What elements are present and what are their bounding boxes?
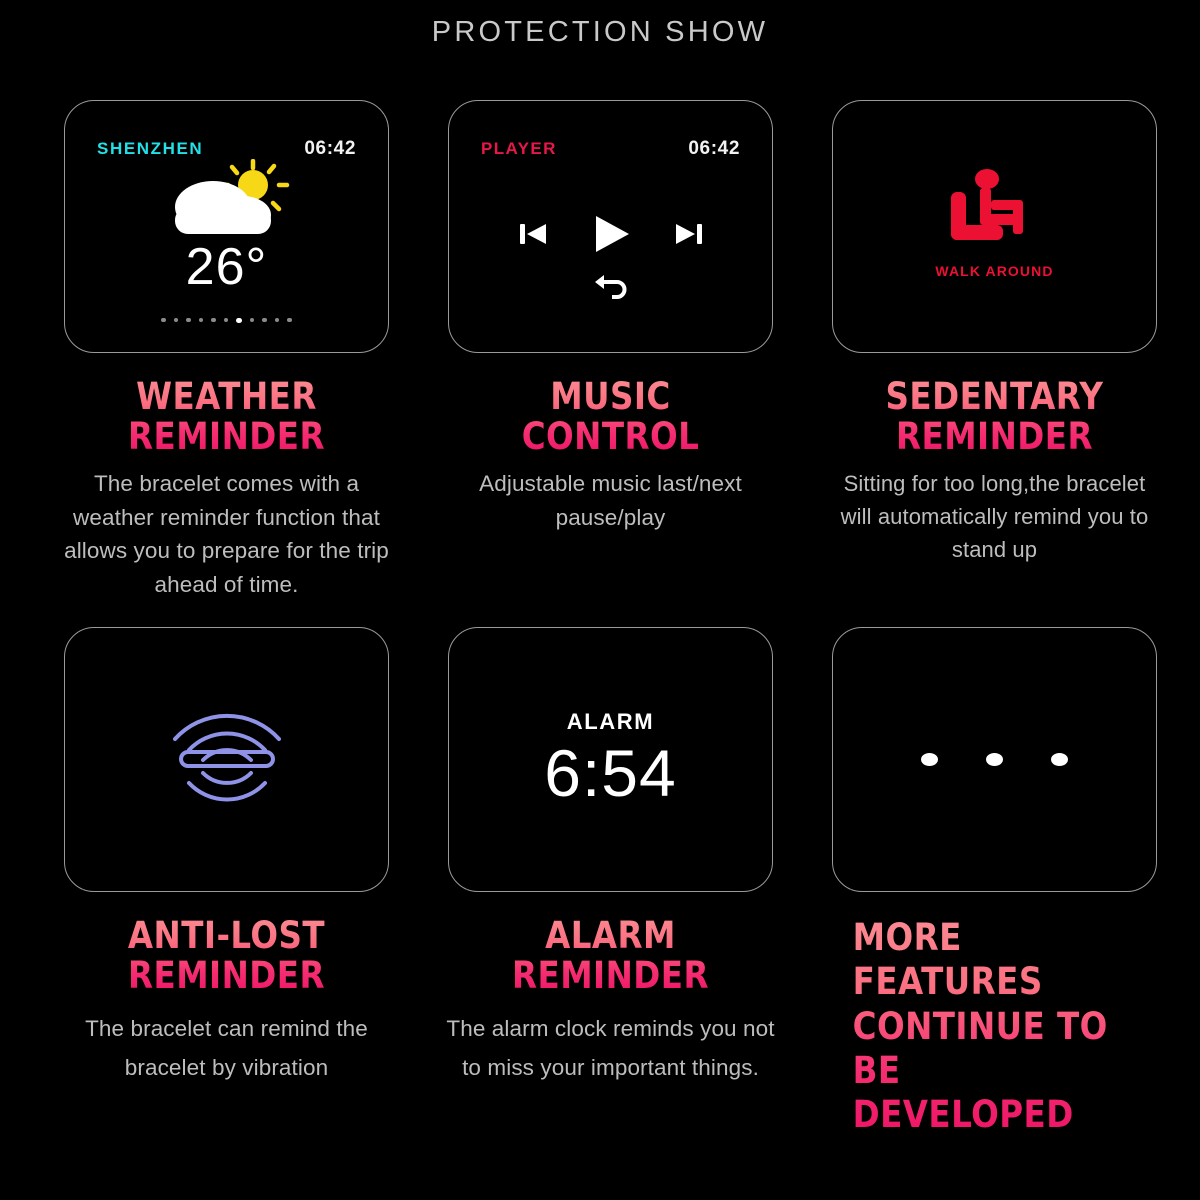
device-screen-sedentary[interactable]: WALK AROUND	[832, 100, 1157, 353]
page-dot	[275, 318, 280, 323]
page-dot	[161, 318, 166, 323]
device-screen-anti-lost[interactable]	[64, 627, 389, 892]
weather-clock-label: 06:42	[304, 138, 356, 160]
page-dot	[186, 318, 191, 323]
play-icon[interactable]	[590, 213, 632, 260]
device-screen-alarm[interactable]: ALARM 6:54	[448, 627, 773, 892]
player-transport-controls	[449, 213, 772, 260]
page-dot	[250, 318, 255, 323]
device-screen-music[interactable]: PLAYER 06:42	[448, 100, 773, 353]
page-dot-active	[236, 318, 242, 324]
weather-city-label: SHENZHEN	[97, 139, 203, 159]
feature-card-alarm: ALARM 6:54 ALARM REMINDER The alarm cloc…	[444, 627, 777, 1138]
return-arrow-icon[interactable]	[449, 273, 772, 303]
feature-heading-music: MUSIC CONTROL	[464, 377, 757, 457]
feature-card-weather: SHENZHEN 06:42	[60, 100, 393, 602]
ellipsis-dot	[986, 753, 1003, 766]
player-status-bar: PLAYER 06:42	[449, 138, 772, 160]
player-clock-label: 06:42	[688, 138, 740, 160]
walk-around-label: WALK AROUND	[935, 263, 1053, 279]
feature-card-anti-lost: ANTI-LOST REMINDER The bracelet can remi…	[60, 627, 393, 1138]
alarm-title-label: ALARM	[567, 709, 654, 735]
vibration-waves-icon	[65, 628, 388, 891]
page-dot	[199, 318, 204, 323]
feature-card-sedentary: WALK AROUND SEDENTARY REMINDER Sitting f…	[828, 100, 1161, 602]
page-title: PROTECTION SHOW	[0, 16, 1200, 49]
ellipsis-dot	[921, 753, 938, 766]
feature-heading-sedentary: SEDENTARY REMINDER	[848, 377, 1141, 457]
ellipsis-dot	[1051, 753, 1068, 766]
alarm-time-value: 6:54	[544, 737, 676, 810]
weather-temperature: 26°	[65, 241, 388, 293]
page-dot	[224, 318, 229, 323]
device-screen-weather[interactable]: SHENZHEN 06:42	[64, 100, 389, 353]
sedentary-content: WALK AROUND	[833, 101, 1156, 352]
previous-track-icon[interactable]	[518, 220, 548, 253]
weather-status-bar: SHENZHEN 06:42	[65, 138, 388, 160]
page-indicator-dots[interactable]	[65, 318, 388, 324]
feature-body-weather: The bracelet comes with a weather remind…	[60, 467, 393, 602]
feature-heading-anti-lost: ANTI-LOST REMINDER	[80, 916, 373, 996]
next-track-icon[interactable]	[674, 220, 704, 253]
player-title-label: PLAYER	[481, 139, 557, 159]
feature-grid: SHENZHEN 06:42	[60, 100, 1160, 1138]
feature-body-sedentary: Sitting for too long,the bracelet will a…	[828, 467, 1161, 566]
feature-card-music: PLAYER 06:42	[444, 100, 777, 602]
page-dot	[211, 318, 216, 323]
alarm-content: ALARM 6:54	[449, 628, 772, 891]
feature-body-alarm: The alarm clock reminds you not to miss …	[444, 1010, 777, 1087]
device-screen-more-features[interactable]	[832, 627, 1157, 892]
ellipsis-dots-icon	[833, 628, 1156, 891]
page-dot	[262, 318, 267, 323]
sun-behind-cloud-icon	[65, 159, 388, 239]
page-dot	[287, 318, 292, 323]
feature-body-music: Adjustable music last/next pause/play	[444, 467, 777, 535]
feature-card-more-features: MORE FEATURES CONTINUE TO BE DEVELOPED	[828, 627, 1161, 1138]
feature-heading-alarm: ALARM REMINDER	[464, 916, 757, 996]
page-dot	[174, 318, 179, 323]
feature-heading-weather: WEATHER REMINDER	[80, 377, 373, 457]
seated-person-icon	[947, 168, 1043, 255]
feature-body-anti-lost: The bracelet can remind the bracelet by …	[60, 1010, 393, 1087]
feature-heading-more-features: MORE FEATURES CONTINUE TO BE DEVELOPED	[828, 916, 1121, 1138]
